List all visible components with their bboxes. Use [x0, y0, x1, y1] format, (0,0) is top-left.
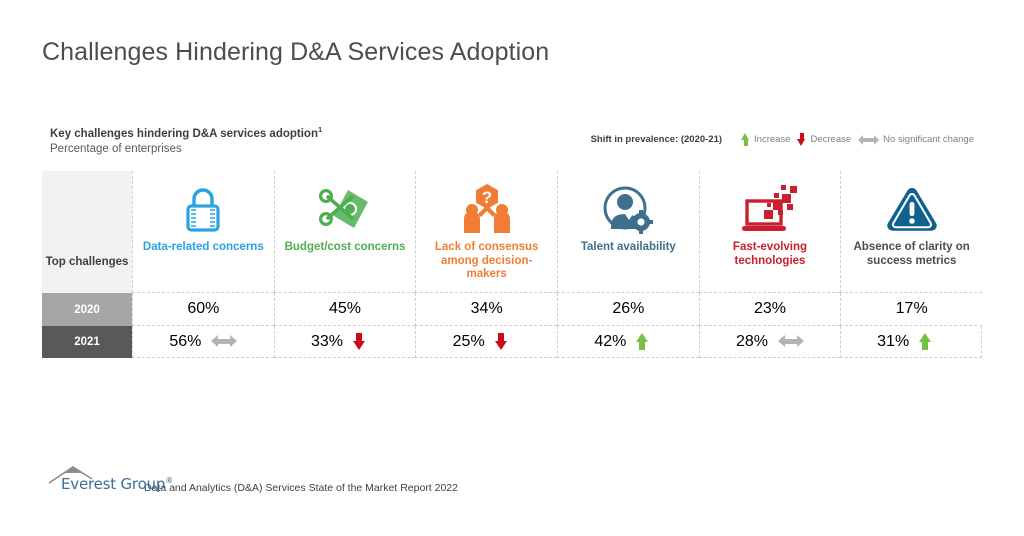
legend-item-increase: Increase — [741, 133, 790, 146]
arrow-down-icon — [797, 133, 806, 146]
row-label-2021: 2021 — [42, 326, 132, 358]
table-cell-2020-talent: 26% — [557, 293, 699, 326]
svg-text:?: ? — [481, 188, 491, 207]
cell-value: 23% — [754, 300, 786, 318]
table-cell-2020-data-related: 60% — [132, 293, 274, 326]
cell-value: 33% — [311, 333, 343, 351]
registered-mark: ® — [165, 476, 173, 485]
arrow-up-icon — [636, 333, 648, 350]
logo-name: Everest Group — [61, 475, 165, 493]
column-header-talent-availability: Talent availability — [557, 171, 699, 293]
row-label-2020-text: 2020 — [74, 304, 100, 316]
page-title: Challenges Hindering D&A Services Adopti… — [42, 38, 549, 67]
table-cell-2021-data-related: 56% — [132, 326, 274, 358]
column-header-label: Lack of consensus among decision-makers — [416, 241, 557, 282]
arrow-up-icon — [919, 333, 931, 350]
legend-item-decrease: Decrease — [797, 133, 851, 146]
challenges-table: Top challenges Data-related c — [42, 171, 982, 358]
logo-text: Everest Group® — [61, 475, 173, 493]
subheading-line1-text: Key challenges hindering D&A services ad… — [50, 128, 318, 140]
column-header-data-related-concerns: Data-related concerns — [132, 171, 274, 293]
column-header-label: Budget/cost concerns — [279, 241, 412, 255]
cell-value: 26% — [612, 300, 644, 318]
trend-indicator-increase — [919, 333, 945, 350]
slide: Challenges Hindering D&A Services Adopti… — [0, 0, 1024, 536]
footer: Everest Group® Data and Analytics (D&A) … — [48, 466, 458, 496]
table-corner-label-text: Top challenges — [46, 255, 129, 269]
footnote-marker: 1 — [318, 125, 322, 134]
table-cell-2021-budget-cost: 33% — [274, 326, 416, 358]
column-header-label: Data-related concerns — [137, 241, 270, 255]
column-header-fast-evolving-technologies: Fast-evolving technologies — [699, 171, 841, 293]
cell-value: 25% — [453, 333, 485, 351]
cell-value: 60% — [187, 300, 219, 318]
table-cell-2020-clarity: 17% — [840, 293, 982, 326]
table-cell-2021-clarity: 31% — [840, 326, 982, 358]
column-header-label: Absence of clarity on success metrics — [841, 241, 982, 268]
cell-value: 34% — [471, 300, 503, 318]
arrow-both-icon — [211, 335, 237, 348]
trend-indicator-increase — [636, 333, 662, 350]
trend-indicator-no-change — [211, 335, 237, 348]
cell-value: 42% — [594, 333, 626, 351]
column-header-budget-cost-concerns: Budget/cost concerns — [274, 171, 416, 293]
subheading: Key challenges hindering D&A services ad… — [50, 122, 322, 157]
cell-value: 28% — [736, 333, 768, 351]
laptop-pixels-icon — [740, 178, 800, 240]
everest-group-logo: Everest Group® — [48, 466, 140, 496]
table-cell-2020-tech: 23% — [699, 293, 841, 326]
cell-value: 45% — [329, 300, 361, 318]
cell-value: 31% — [877, 333, 909, 351]
column-header-absence-of-clarity: Absence of clarity on success metrics — [840, 171, 982, 293]
table-cell-2020-consensus: 34% — [415, 293, 557, 326]
warning-triangle-icon — [884, 178, 940, 240]
trend-indicator-no-change — [778, 335, 804, 348]
arrow-both-icon — [778, 335, 804, 348]
legend-label-increase: Increase — [754, 134, 790, 145]
arrow-down-icon — [353, 333, 365, 350]
arrow-up-icon — [741, 133, 750, 146]
table-cell-2021-talent: 42% — [557, 326, 699, 358]
trend-indicator-decrease — [353, 333, 379, 350]
subheading-line2: Percentage of enterprises — [50, 142, 322, 157]
legend-label-no-change: No significant change — [883, 134, 974, 145]
legend-label-decrease: Decrease — [810, 134, 851, 145]
legend: Shift in prevalence: (2020-21) Increase … — [591, 133, 974, 146]
legend-item-no-change: No significant change — [858, 134, 974, 145]
source-text: Data and Analytics (D&A) Services State … — [144, 482, 458, 496]
arrow-down-icon — [495, 333, 507, 350]
cell-value: 56% — [169, 333, 201, 351]
column-header-lack-of-consensus: ? Lack of consensus among decision-maker… — [415, 171, 557, 293]
row-label-2020: 2020 — [42, 293, 132, 326]
table-cell-2021-tech: 28% — [699, 326, 841, 358]
person-gear-icon — [602, 178, 654, 240]
column-header-label: Fast-evolving technologies — [700, 241, 841, 268]
people-question-icon: ? — [460, 178, 514, 240]
row-label-2021-text: 2021 — [74, 336, 100, 348]
table-cell-2020-budget-cost: 45% — [274, 293, 416, 326]
subheading-line1: Key challenges hindering D&A services ad… — [50, 122, 322, 142]
trend-indicator-decrease — [495, 333, 521, 350]
legend-title: Shift in prevalence: (2020-21) — [591, 134, 722, 145]
table-corner-label: Top challenges — [42, 171, 132, 293]
arrow-both-icon — [858, 135, 879, 145]
column-header-label: Talent availability — [575, 241, 682, 255]
table-cell-2021-consensus: 25% — [415, 326, 557, 358]
cell-value: 17% — [896, 300, 928, 318]
padlock-icon — [181, 178, 225, 240]
scissors-money-icon — [318, 178, 372, 240]
